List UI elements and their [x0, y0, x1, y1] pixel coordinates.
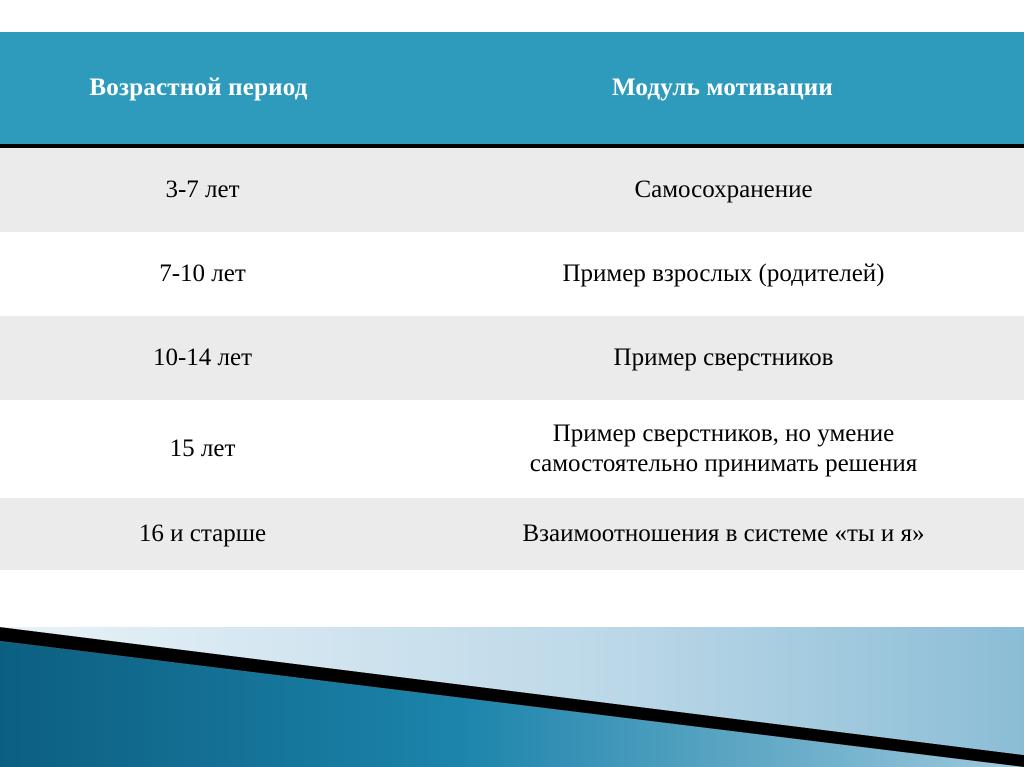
cell-text-line-1: Самосохранение — [445, 175, 1002, 206]
cell-text-line-1: Пример сверстников — [445, 343, 1002, 374]
cell-motivation-module: Взаимоотношения в системе «ты и я» — [444, 498, 1024, 570]
cell-text-line-1: Пример взрослых (родителей) — [445, 259, 1002, 290]
cell-age-period: 7-10 лет — [0, 232, 444, 316]
table-header: Возрастной период Модуль мотивации — [0, 32, 1024, 146]
table-body: 3-7 лет Самосохранение 7-10 лет Пример в… — [0, 146, 1024, 570]
cell-text-line-1: Пример сверстников, но умение — [445, 419, 1002, 450]
cell-motivation-module: Самосохранение — [444, 146, 1024, 232]
table-header-row: Возрастной период Модуль мотивации — [0, 32, 1024, 146]
table-row: 3-7 лет Самосохранение — [0, 146, 1024, 232]
cell-text-line-2: самостоятельно принимать решения — [445, 449, 1002, 480]
decoration-shape — [0, 627, 1024, 767]
cell-motivation-module: Пример сверстников, но умение самостояте… — [444, 400, 1024, 498]
table-row: 10-14 лет Пример сверстников — [0, 316, 1024, 400]
cell-age-period: 15 лет — [0, 400, 444, 498]
cell-age-period: 16 и старше — [0, 498, 444, 570]
table-row: 7-10 лет Пример взрослых (родителей) — [0, 232, 1024, 316]
cell-age-period: 10-14 лет — [0, 316, 444, 400]
cell-motivation-module: Пример взрослых (родителей) — [444, 232, 1024, 316]
table-row: 16 и старше Взаимоотношения в системе «т… — [0, 498, 1024, 570]
column-header-age-period: Возрастной период — [0, 32, 444, 146]
cell-age-period: 3-7 лет — [0, 146, 444, 232]
table-row: 15 лет Пример сверстников, но умение сам… — [0, 400, 1024, 498]
slide-canvas: Возрастной период Модуль мотивации 3-7 л… — [0, 0, 1024, 767]
column-header-motivation-module: Модуль мотивации — [444, 32, 1024, 146]
motivation-table: Возрастной период Модуль мотивации 3-7 л… — [0, 32, 1024, 570]
cell-text-line-1: Взаимоотношения в системе «ты и я» — [445, 519, 1002, 550]
cell-motivation-module: Пример сверстников — [444, 316, 1024, 400]
slide-decoration — [0, 627, 1024, 767]
motivation-table-container: Возрастной период Модуль мотивации 3-7 л… — [0, 32, 1024, 570]
